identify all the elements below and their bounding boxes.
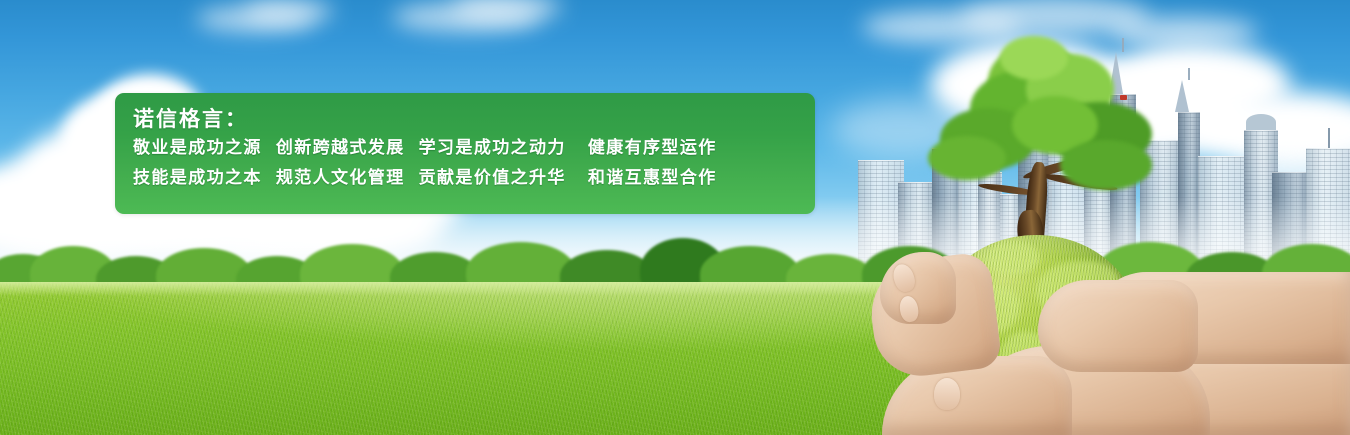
palm-upper [1038, 280, 1198, 372]
slogan-2-3: 贡献是价值之升华 [419, 168, 566, 188]
slogan-2-2: 规范人文化管理 [276, 168, 405, 188]
spire-icon [1188, 68, 1190, 80]
slogan-1-3: 学习是成功之动力 [419, 138, 566, 158]
tree-foliage [928, 136, 1006, 180]
slogan-2-1: 技能是成功之本 [133, 168, 262, 188]
slogan-line-1: 敬业是成功之源创新跨越式发展学习是成功之动力健康有序型运作 [133, 133, 815, 163]
cloud-icon [244, 0, 334, 22]
spire-icon [1175, 80, 1189, 112]
slogan-panel: 诺信格言： 敬业是成功之源创新跨越式发展学习是成功之动力健康有序型运作 技能是成… [115, 93, 815, 214]
fingernail [934, 378, 960, 410]
slogan-2-4: 和谐互惠型合作 [588, 168, 717, 188]
slogan-1-2: 创新跨越式发展 [276, 138, 405, 158]
eco-banner: 诺信格言： 敬业是成功之源创新跨越式发展学习是成功之动力健康有序型运作 技能是成… [0, 0, 1350, 435]
slogan-1-1: 敬业是成功之源 [133, 138, 262, 158]
slogan-line-2: 技能是成功之本规范人文化管理贡献是价值之升华和谐互惠型合作 [133, 163, 815, 193]
antenna-icon [1328, 128, 1330, 148]
continent-shape [986, 241, 1040, 275]
panel-title: 诺信格言： [133, 105, 815, 133]
slogan-1-4: 健康有序型运作 [588, 138, 717, 158]
tree-foliage [1000, 36, 1068, 80]
dome-icon [1246, 114, 1276, 130]
tree-foliage [1060, 140, 1152, 190]
